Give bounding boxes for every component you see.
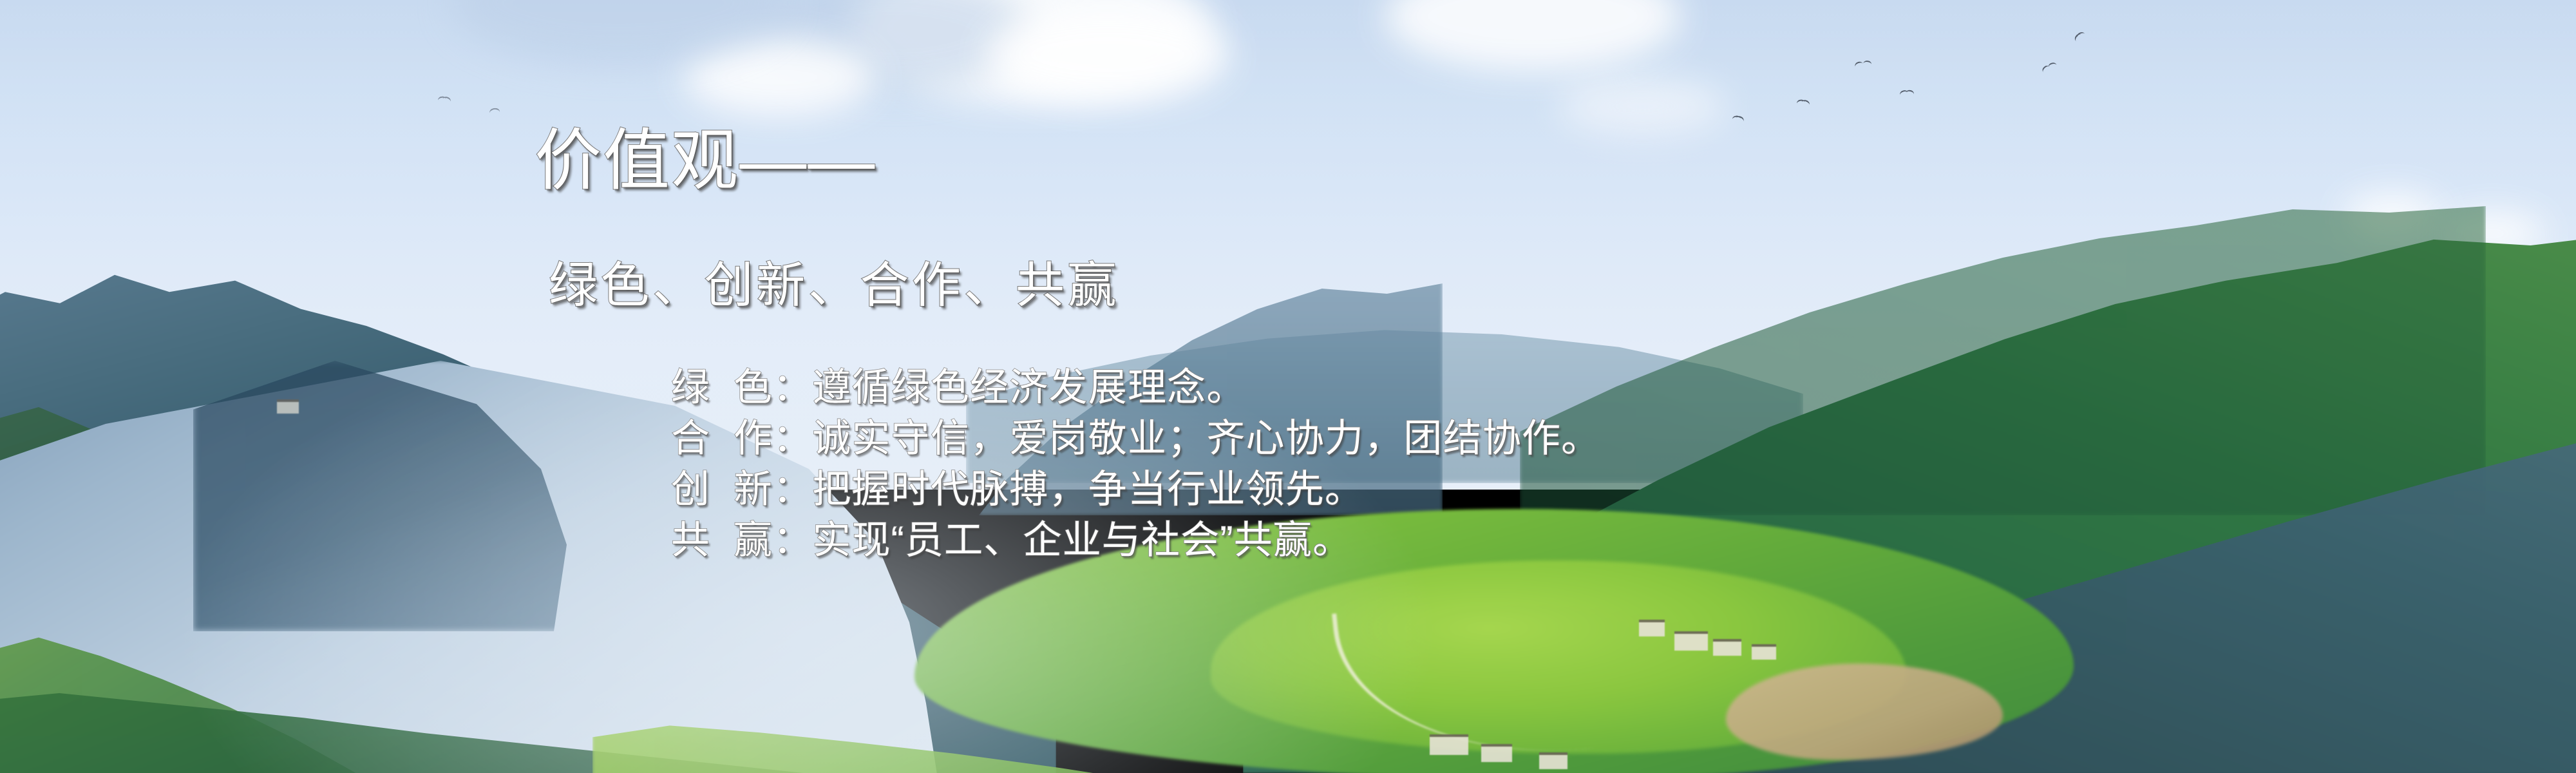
list-item: 绿 色：遵循绿色经济发展理念。 (671, 368, 1600, 407)
list-item: 创 新：把握时代脉搏，争当行业领先。 (671, 470, 1600, 509)
text-overlay: 价值观—— 绿色、创新、合作、共赢 绿 色：遵循绿色经济发展理念。 合 作：诚实… (0, 0, 2576, 773)
subtitle: 绿色、创新、合作、共赢 (549, 260, 1119, 312)
page-title: 价值观—— (535, 126, 876, 196)
list-item: 共 赢：实现“员工、企业与社会”共赢。 (671, 521, 1600, 560)
list-item: 合 作：诚实守信，爱岗敬业；齐心协力，团结协作。 (671, 419, 1600, 458)
slide-canvas: 价值观—— 绿色、创新、合作、共赢 绿 色：遵循绿色经济发展理念。 合 作：诚实… (0, 0, 2576, 773)
values-list: 绿 色：遵循绿色经济发展理念。 合 作：诚实守信，爱岗敬业；齐心协力，团结协作。… (671, 368, 1600, 560)
